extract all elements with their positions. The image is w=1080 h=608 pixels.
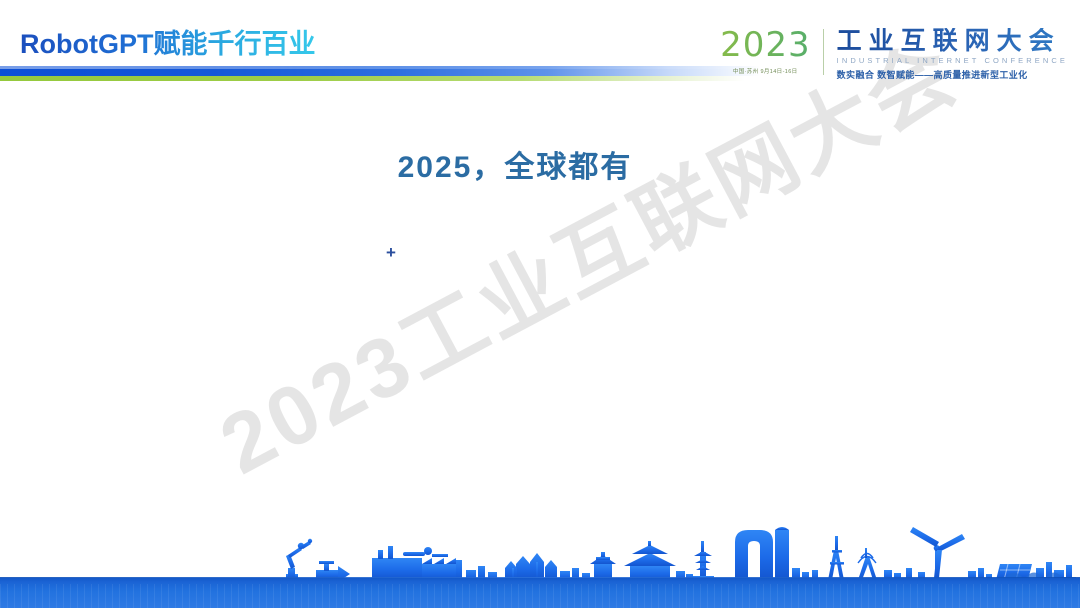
section-heading: 2025，全球都有 xyxy=(0,142,1030,186)
water-texture xyxy=(0,584,1080,608)
logo-slogan: 数实融合 数智赋能——高质量推进新型工业化 xyxy=(837,68,1068,81)
logo-conference-name-cn: 工业互联网大会 xyxy=(837,28,1068,54)
header-rule-green xyxy=(0,76,745,81)
image-strip: XR-1 云端智能服务机器人 xyxy=(0,325,1080,455)
presentation-slide: 2023工业互联网大会 RobotGPT赋能千行百业 2023 中国·苏州 9月… xyxy=(0,0,1080,608)
header-rule-highlight xyxy=(0,66,760,69)
plus-icon: + xyxy=(386,244,396,261)
logo-text-block: 工业互联网大会 INDUSTRIAL INTERNET CONFERENCE 数… xyxy=(824,28,1068,81)
page-title: RobotGPT赋能千行百业 xyxy=(20,22,315,61)
watermark-text: 2023工业互联网大会 xyxy=(157,17,863,582)
logo-year-block: 2023 中国·苏州 9月14日-16日 xyxy=(720,28,823,75)
slide-header: RobotGPT赋能千行百业 2023 中国·苏州 9月14日-16日 工业互联… xyxy=(0,0,1080,100)
logo-conference-name-en: INDUSTRIAL INTERNET CONFERENCE xyxy=(837,56,1068,65)
footer-skyline xyxy=(0,508,1080,608)
logo-year: 2023 xyxy=(720,28,811,62)
conference-logo: 2023 中国·苏州 9月14日-16日 工业互联网大会 INDUSTRIAL … xyxy=(720,28,1068,86)
logo-date: 中国·苏州 9月14日-16日 xyxy=(733,66,798,74)
